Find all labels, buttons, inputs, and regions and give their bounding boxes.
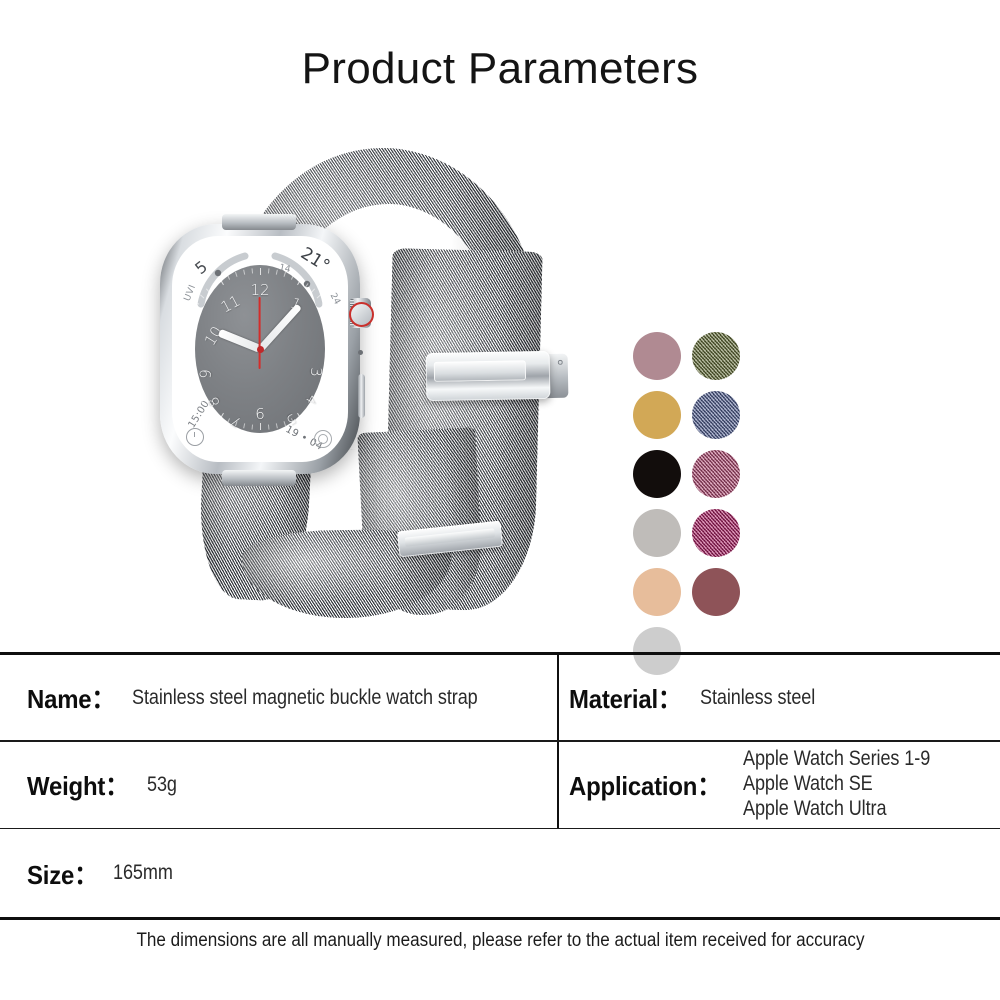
product-hero-image: 5 UVI 21° 14 24 15:00 375 • 19 • 04 12 1…: [0, 110, 1000, 650]
color-swatch-blue-purple-mesh[interactable]: [692, 391, 740, 439]
spec-label: Name：: [27, 679, 115, 716]
color-swatch-peach-beige[interactable]: [633, 568, 681, 616]
swatch-row: [633, 391, 793, 439]
watch-screen: 5 UVI 21° 14 24 15:00 375 • 19 • 04 12 1…: [172, 236, 348, 462]
spec-cell-material: Material： Stainless steel: [557, 655, 1000, 740]
watch-lug-bottom: [222, 470, 296, 486]
magnetic-buckle-clasp: [426, 351, 551, 401]
table-row: Name： Stainless steel magnetic buckle wa…: [0, 655, 1000, 740]
color-swatch-gold-tan[interactable]: [633, 391, 681, 439]
table-row: Size： 165mm: [0, 829, 1000, 917]
spec-value: Stainless steel: [700, 686, 815, 710]
color-swatch-magenta-rose-mesh[interactable]: [692, 509, 740, 557]
spec-value-list: Apple Watch Series 1-9Apple Watch SEAppl…: [743, 747, 930, 821]
column-divider: [557, 655, 559, 740]
numeral-3: 3: [307, 367, 325, 377]
swatch-row: [633, 568, 793, 616]
spec-label: Application：: [569, 766, 721, 803]
spec-table: Name： Stainless steel magnetic buckle wa…: [0, 652, 1000, 920]
table-row: Weight： 53g Application： Apple Watch Ser…: [0, 742, 1000, 828]
color-swatch-grid: [633, 332, 793, 686]
crown-red-ring-icon: [349, 302, 374, 327]
spec-cell-weight: Weight： 53g: [0, 742, 557, 828]
second-hand: [259, 297, 261, 369]
spec-value: 165mm: [113, 861, 173, 885]
side-button: [358, 374, 365, 418]
watch-lug-top: [222, 214, 296, 230]
color-swatch-maroon-brown[interactable]: [692, 568, 740, 616]
dial-pivot: [257, 346, 264, 353]
color-swatch-pink-magenta-mesh[interactable]: [692, 450, 740, 498]
apple-watch-with-strap: 5 UVI 21° 14 24 15:00 375 • 19 • 04 12 1…: [150, 130, 610, 630]
numeral-9: 9: [196, 369, 215, 380]
color-swatch-black[interactable]: [633, 450, 681, 498]
color-swatch-olive-green-mesh[interactable]: [692, 332, 740, 380]
product-parameters-page: Product Parameters: [0, 0, 1000, 1000]
spec-label: Material：: [569, 679, 682, 716]
numeral-6: 6: [255, 405, 265, 423]
swatch-row: [633, 332, 793, 380]
spec-value-line: Apple Watch Series 1-9: [743, 747, 930, 772]
spec-value-line: Apple Watch SE: [743, 772, 930, 797]
measurement-disclaimer-text: The dimensions are all manually measured…: [136, 930, 864, 952]
microphone-hole-icon: [358, 350, 363, 355]
spec-label: Size：: [27, 855, 98, 892]
swatch-row: [633, 450, 793, 498]
measurement-disclaimer: The dimensions are all manually measured…: [0, 930, 1000, 952]
spec-value: 53g: [147, 773, 177, 797]
spec-value: Stainless steel magnetic buckle watch st…: [132, 686, 478, 710]
page-title: Product Parameters: [0, 44, 1000, 94]
column-divider: [557, 742, 559, 828]
color-swatch-warm-gray[interactable]: [633, 509, 681, 557]
table-bottom-rule: [0, 917, 1000, 920]
swatch-row: [633, 509, 793, 557]
watch-dial: 12 11 10 9 8 7 6 5 4 3 1: [195, 265, 325, 433]
watch-case: 5 UVI 21° 14 24 15:00 375 • 19 • 04 12 1…: [160, 224, 360, 474]
color-swatch-mauve-pink[interactable]: [633, 332, 681, 380]
spec-cell-name: Name： Stainless steel magnetic buckle wa…: [0, 655, 557, 740]
spec-cell-size: Size： 165mm: [0, 829, 557, 917]
spec-cell-application: Application： Apple Watch Series 1-9Apple…: [557, 742, 1000, 828]
spec-label: Weight：: [27, 766, 129, 803]
spec-value-line: Apple Watch Ultra: [743, 797, 930, 822]
